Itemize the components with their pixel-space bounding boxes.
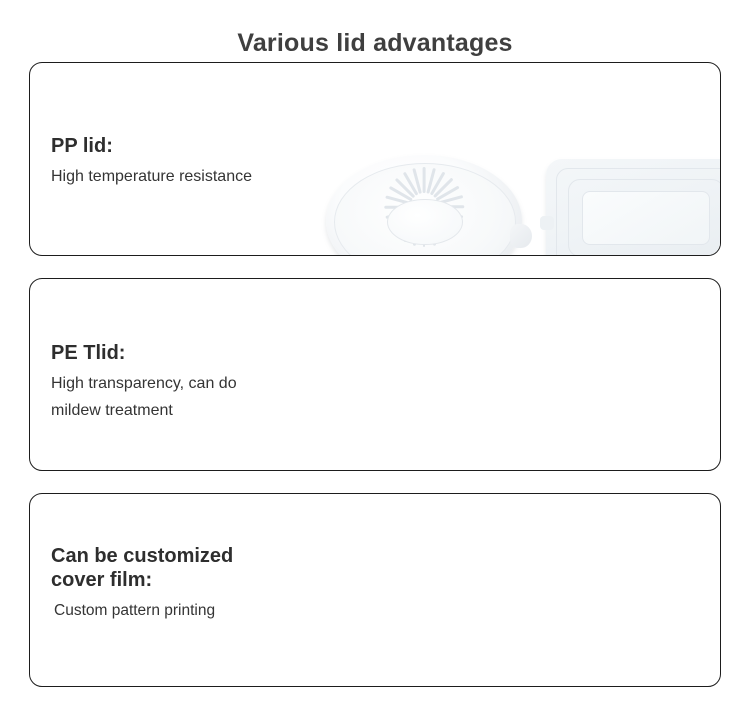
pp-round-ribbed-lid-image bbox=[326, 155, 522, 256]
pp-lid-description: High temperature resistance bbox=[51, 163, 252, 190]
pp-rect-ridge-inner bbox=[582, 191, 710, 245]
cover-film-text-block: Can be customized cover film: Custom pat… bbox=[51, 544, 233, 624]
pe-tlid-text-block: PE Tlid: High transparency, can do milde… bbox=[51, 341, 237, 424]
page-title: Various lid advantages bbox=[0, 29, 750, 58]
card-pe-tlid: PE Tlid: High transparency, can do milde… bbox=[29, 278, 721, 471]
pp-round-tab bbox=[510, 224, 532, 248]
pe-tlid-description: High transparency, can do mildew treatme… bbox=[51, 370, 237, 424]
pp-lid-heading: PP lid: bbox=[51, 134, 252, 158]
cover-film-heading: Can be customized cover film: bbox=[51, 544, 233, 592]
card-pp-lid: PP lid: High temperature resistance bbox=[29, 62, 721, 256]
cover-film-description: Custom pattern printing bbox=[51, 597, 233, 624]
pp-rect-notch bbox=[540, 216, 554, 230]
pe-tlid-heading: PE Tlid: bbox=[51, 341, 237, 365]
pp-rect-corner-dot bbox=[564, 255, 575, 256]
pp-round-center-hub bbox=[387, 199, 463, 246]
pp-lid-text-block: PP lid: High temperature resistance bbox=[51, 134, 252, 190]
card-cover-film: Can be customized cover film: Custom pat… bbox=[29, 493, 721, 687]
pp-rectangular-lid-image bbox=[546, 159, 721, 256]
